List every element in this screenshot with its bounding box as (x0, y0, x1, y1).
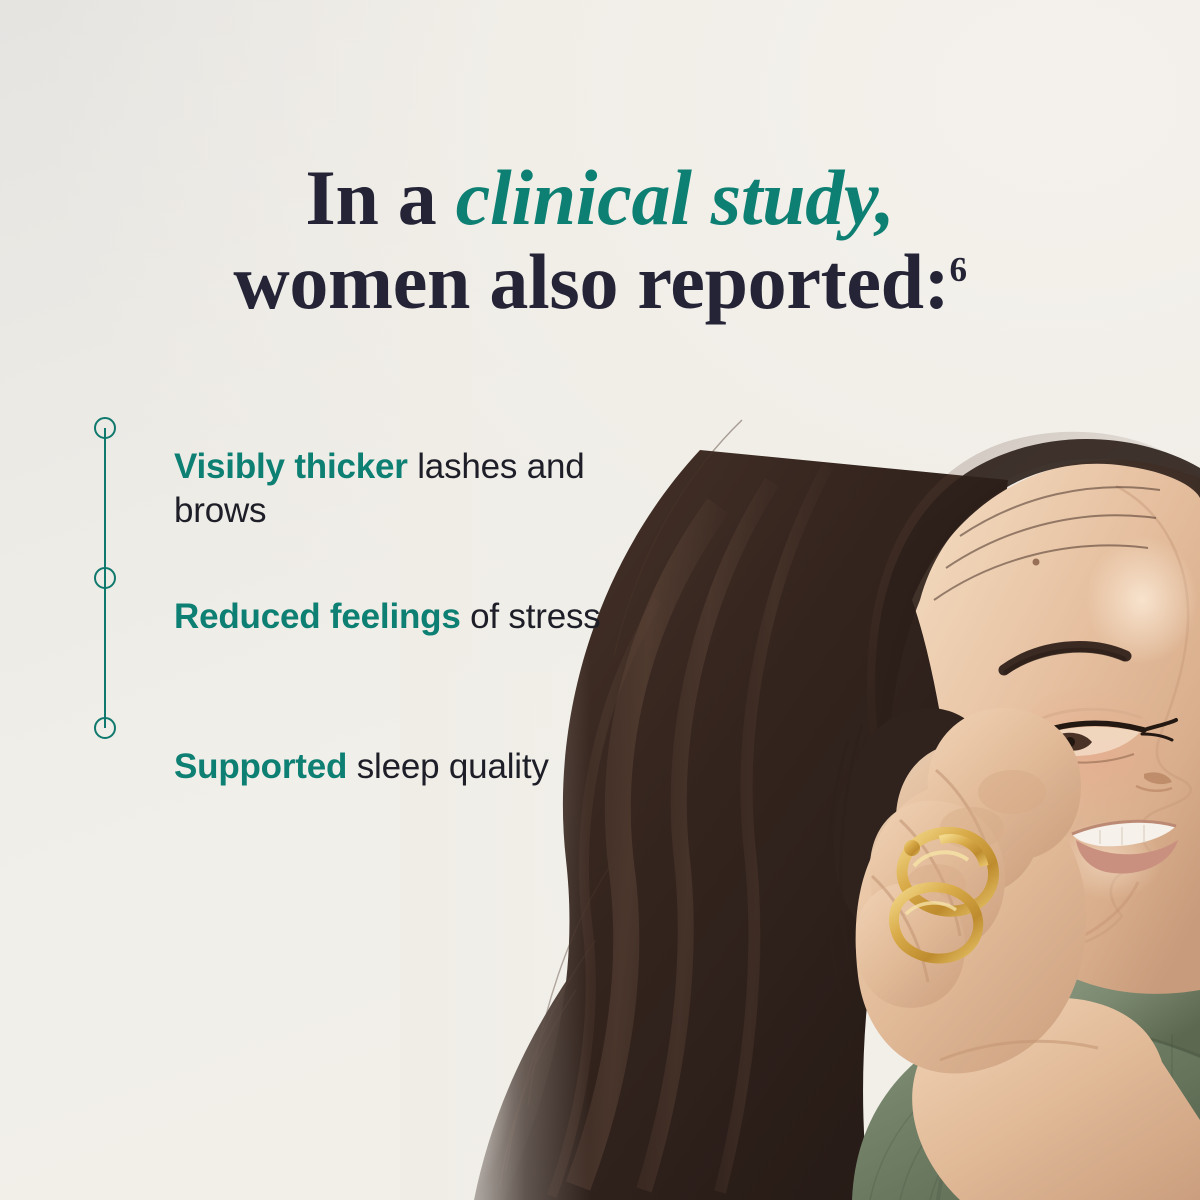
benefit-3-rest: sleep quality (347, 747, 549, 786)
headline-line-1: In a clinical study, (0, 156, 1200, 240)
timeline-node-1-icon (94, 417, 116, 439)
benefit-item-1: Visibly thicker lashes and brows (174, 445, 644, 533)
timeline-node-3-icon (94, 717, 116, 739)
promo-card: In a clinical study, women also reported… (0, 0, 1200, 1200)
headline-accent: clinical study, (456, 154, 895, 241)
footnote-marker: 6 (949, 250, 966, 289)
benefit-2-rest: of stress (461, 597, 601, 636)
benefit-1-lead: Visibly thicker (174, 447, 408, 486)
benefit-item-3: Supported sleep quality (174, 745, 644, 789)
headline-line2-text: women also reported: (233, 238, 949, 325)
timeline-node-2-icon (94, 567, 116, 589)
headline-line-2: women also reported:6 (0, 240, 1200, 324)
page-title: In a clinical study, women also reported… (0, 156, 1200, 324)
benefits-timeline: Visibly thicker lashes and brows Reduced… (86, 404, 626, 804)
headline-prefix: In a (305, 154, 455, 241)
benefit-3-lead: Supported (174, 747, 347, 786)
benefit-item-2: Reduced feelings of stress (174, 595, 644, 639)
benefit-2-lead: Reduced feelings (174, 597, 461, 636)
